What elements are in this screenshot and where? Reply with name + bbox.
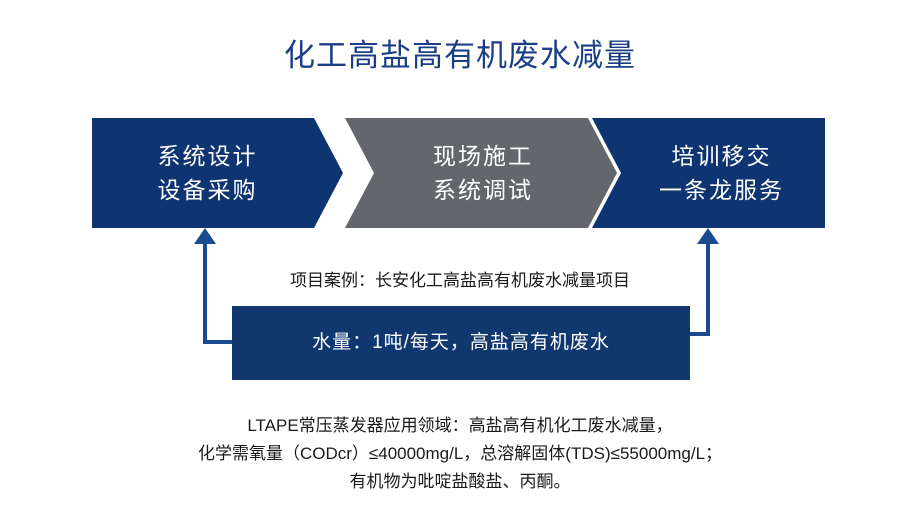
connector-left-horizontal	[203, 340, 235, 344]
process-step-2-line2: 系统调试	[433, 173, 533, 207]
process-step-construction-commissioning[interactable]: 现场施工 系统调试	[345, 118, 617, 228]
case-info-banner: 水量：1吨/每天，高盐高有机废水	[232, 306, 690, 380]
case-caption: 项目案例：长安化工高盐高有机废水减量项目	[0, 268, 920, 294]
page-title: 化工高盐高有机废水减量	[0, 36, 920, 76]
process-step-design-procurement[interactable]: 系统设计 设备采购	[92, 118, 343, 228]
process-step-training-handover[interactable]: 培训移交 一条龙服务	[592, 118, 825, 228]
slide-canvas: 化工高盐高有机废水减量 系统设计 设备采购 现场施工 系统调试 培训移交 一条龙…	[0, 0, 920, 522]
footnote-block: LTAPE常压蒸发器应用领域：高盐高有机化工废水减量， 化学需氧量（CODcr）…	[0, 412, 920, 496]
footnote-line-2: 化学需氧量（CODcr）≤40000mg/L，总溶解固体(TDS)≤55000m…	[0, 440, 920, 468]
process-step-3-line1: 培训移交	[672, 139, 772, 173]
case-info-banner-text: 水量：1吨/每天，高盐高有机废水	[312, 329, 610, 357]
footnote-line-1: LTAPE常压蒸发器应用领域：高盐高有机化工废水减量，	[0, 412, 920, 440]
process-step-1-line2: 设备采购	[158, 173, 258, 207]
footnote-line-3: 有机物为吡啶盐酸盐、丙酮。	[0, 468, 920, 496]
process-step-1-line1: 系统设计	[158, 139, 258, 173]
process-step-3-line2: 一条龙服务	[659, 173, 784, 207]
process-chevron-row: 系统设计 设备采购 现场施工 系统调试 培训移交 一条龙服务	[92, 118, 825, 228]
process-step-2-line1: 现场施工	[433, 139, 533, 173]
